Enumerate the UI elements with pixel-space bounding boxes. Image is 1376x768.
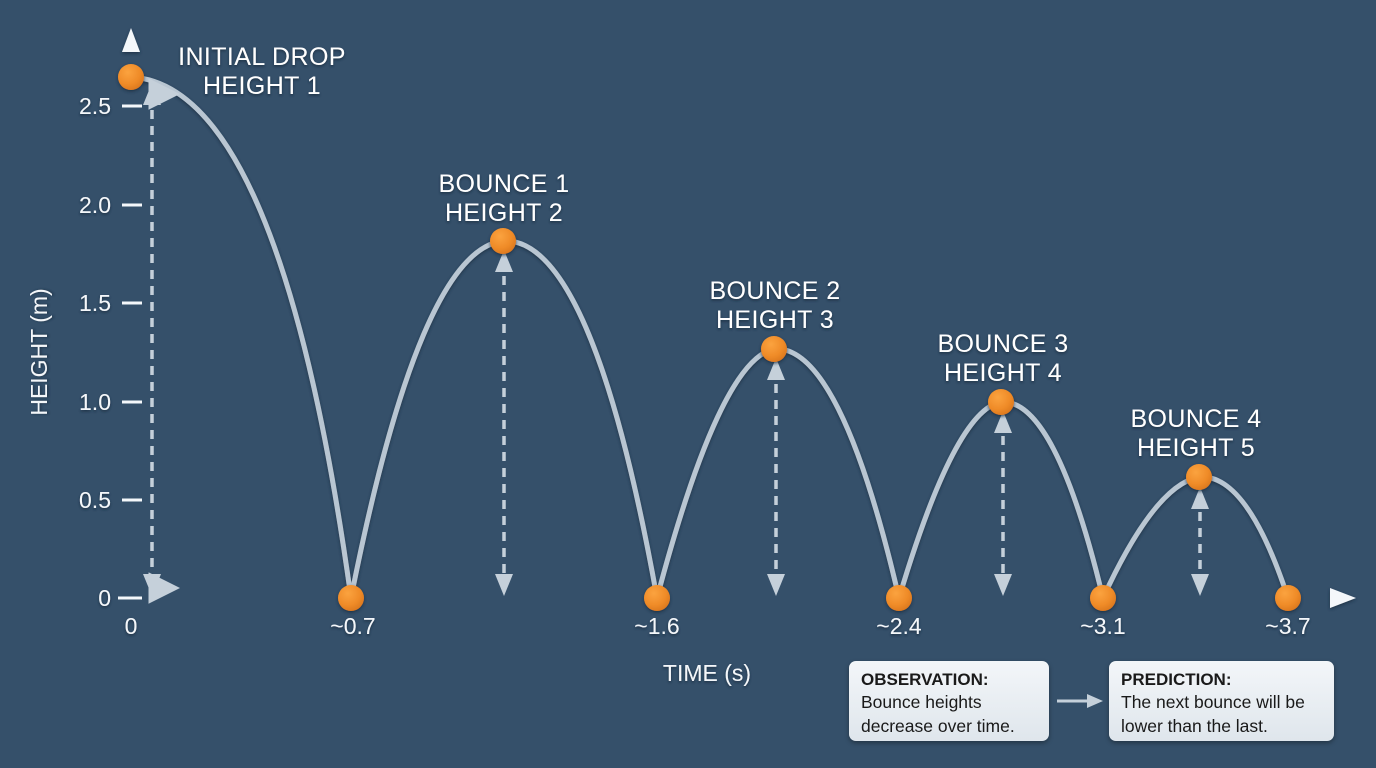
y-axis-arrowhead <box>122 28 140 52</box>
prediction-title: PREDICTION: <box>1121 669 1322 691</box>
x-tick-label-0.7: ~0.7 <box>330 613 375 639</box>
point-ground-3[interactable] <box>886 585 912 611</box>
point-ground-5[interactable] <box>1275 585 1301 611</box>
point-ground-4[interactable] <box>1090 585 1116 611</box>
bouncing-ball-chart: 0 0.5 1.0 1.5 2.0 2.5 HEIGHT (m) 0 ~0.7 … <box>0 0 1376 768</box>
label-bounce-2-line1: BOUNCE 2 <box>709 277 840 305</box>
chart-canvas: 0 0.5 1.0 1.5 2.0 2.5 HEIGHT (m) 0 ~0.7 … <box>0 0 1376 768</box>
prediction-callout: PREDICTION: The next bounce will be lowe… <box>1109 661 1334 741</box>
trajectory-path <box>131 77 1288 598</box>
y-tick-label-1.0: 1.0 <box>79 389 111 415</box>
observation-title: OBSERVATION: <box>861 669 1037 691</box>
point-bounce-1-peak[interactable] <box>490 228 516 254</box>
y-tick-label-0: 0 <box>98 585 111 611</box>
data-points <box>118 64 1301 611</box>
x-axis-arrowhead <box>1330 588 1356 608</box>
point-bounce-4-peak[interactable] <box>1186 464 1212 490</box>
peak-annotations: INITIAL DROP HEIGHT 1 BOUNCE 1 HEIGHT 2 … <box>178 43 1261 462</box>
point-ground-2[interactable] <box>644 585 670 611</box>
point-ground-1[interactable] <box>338 585 364 611</box>
x-tick-label-0: 0 <box>125 613 138 639</box>
x-axis-title: TIME (s) <box>663 660 751 686</box>
label-initial-drop-line1: INITIAL DROP <box>178 43 346 71</box>
y-tick-label-2.5: 2.5 <box>79 93 111 119</box>
label-initial-drop-line2: HEIGHT 1 <box>203 72 321 100</box>
label-bounce-2-line2: HEIGHT 3 <box>716 306 834 334</box>
label-bounce-4-line1: BOUNCE 4 <box>1130 405 1261 433</box>
callout-connector-arrow-icon <box>1057 692 1103 710</box>
trajectory-curve <box>131 77 1288 598</box>
x-tick-label-2.4: ~2.4 <box>876 613 922 639</box>
label-bounce-4-line2: HEIGHT 5 <box>1137 434 1255 462</box>
axis-group: 0 0.5 1.0 1.5 2.0 2.5 HEIGHT (m) 0 ~0.7 … <box>26 28 1356 686</box>
point-initial-drop[interactable] <box>118 64 144 90</box>
x-tick-label-3.1: ~3.1 <box>1080 613 1125 639</box>
observation-body: Bounce heights decrease over time. <box>861 691 1037 737</box>
y-tick-label-2.0: 2.0 <box>79 192 111 218</box>
y-tick-label-0.5: 0.5 <box>79 487 111 513</box>
label-bounce-3-line2: HEIGHT 4 <box>944 359 1062 387</box>
point-bounce-3-peak[interactable] <box>988 389 1014 415</box>
label-bounce-1-line2: HEIGHT 2 <box>445 199 563 227</box>
label-bounce-1-line1: BOUNCE 1 <box>438 170 569 198</box>
point-bounce-2-peak[interactable] <box>761 336 787 362</box>
x-tick-label-1.6: ~1.6 <box>634 613 679 639</box>
y-axis-title: HEIGHT (m) <box>26 288 52 415</box>
observation-callout: OBSERVATION: Bounce heights decrease ove… <box>849 661 1049 741</box>
label-bounce-3-line1: BOUNCE 3 <box>937 330 1068 358</box>
y-tick-label-1.5: 1.5 <box>79 290 111 316</box>
prediction-body: The next bounce will be lower than the l… <box>1121 691 1322 737</box>
x-tick-label-3.7: ~3.7 <box>1265 613 1310 639</box>
